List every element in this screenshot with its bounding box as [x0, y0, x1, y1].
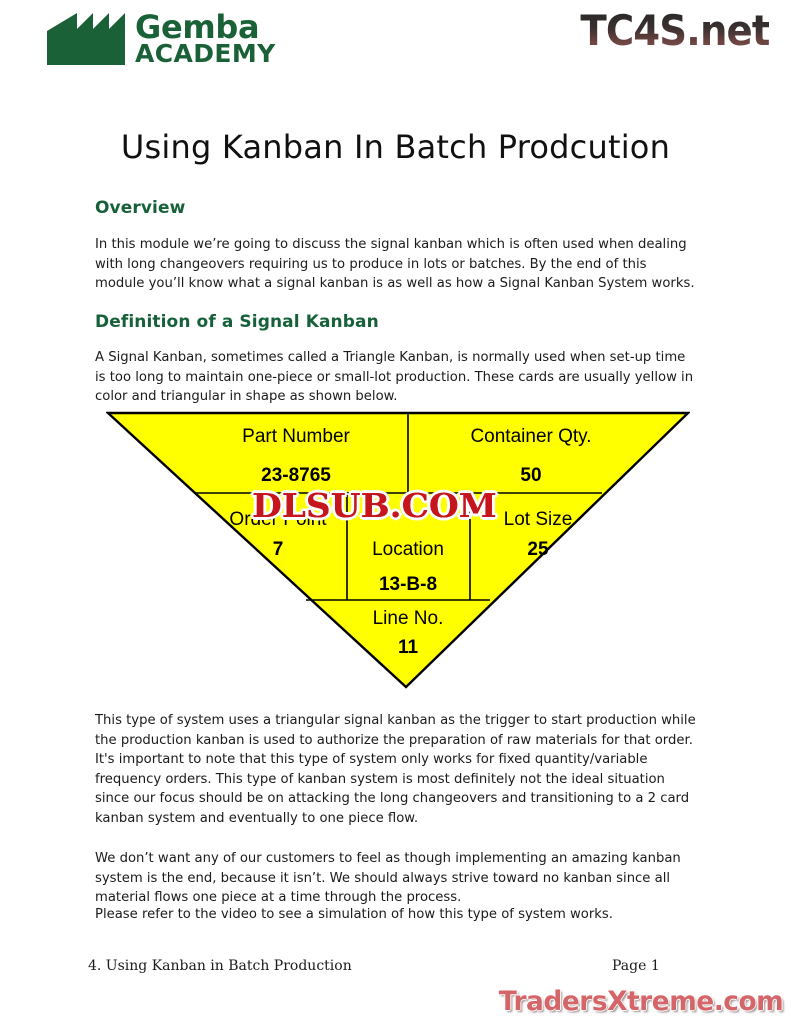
- page-header: Gemba ACADEMY TC4S.net: [0, 0, 791, 96]
- section-heading-definition: Definition of a Signal Kanban: [95, 312, 379, 332]
- section-body-overview: In this module we’re going to discuss th…: [95, 235, 700, 294]
- field-label-order-point: Order Point: [229, 509, 327, 530]
- paragraph-system-description: This type of system uses a triangular si…: [95, 711, 700, 828]
- field-value-lot-size: 25: [527, 539, 549, 560]
- field-value-container-qty: 50: [520, 465, 541, 486]
- field-value-part-number: 23-8765: [261, 465, 331, 486]
- logo-line-1: Gemba: [135, 13, 276, 42]
- field-label-line-no: Line No.: [373, 608, 444, 629]
- field-label-part-number: Part Number: [242, 426, 350, 447]
- field-label-container-qty: Container Qty.: [470, 426, 591, 447]
- field-value-order-point: 7: [273, 539, 284, 560]
- paragraph-customers: We don’t want any of our customers to fe…: [95, 849, 700, 908]
- field-label-lot-size: Lot Size: [504, 509, 573, 530]
- tradersxtreme-brand-mark: TradersXtreme.com: [499, 986, 783, 1017]
- document-page: Gemba ACADEMY TC4S.net Using Kanban In B…: [0, 0, 791, 1024]
- logo-line-2: ACADEMY: [135, 42, 276, 65]
- factory-sawtooth-icon: [47, 13, 125, 65]
- gemba-academy-logo: Gemba ACADEMY: [47, 13, 276, 65]
- logo-wordmark: Gemba ACADEMY: [135, 13, 276, 65]
- field-value-line-no: 11: [398, 637, 419, 658]
- page-title: Using Kanban In Batch Prodcution: [0, 128, 791, 166]
- tc4s-site-mark: TC4S.net: [580, 6, 769, 55]
- section-heading-overview: Overview: [95, 198, 185, 218]
- field-value-location: 13-B-8: [379, 574, 437, 595]
- footer-page-number: Page 1: [612, 958, 660, 974]
- section-body-definition: A Signal Kanban, sometimes called a Tria…: [95, 348, 700, 407]
- signal-kanban-triangle-figure: Part Number 23-8765 Container Qty. 50 Or…: [106, 410, 690, 692]
- footer-module-title: 4. Using Kanban in Batch Production: [88, 958, 352, 974]
- field-label-location: Location: [372, 539, 444, 560]
- paragraph-video-reference: Please refer to the video to see a simul…: [95, 905, 700, 925]
